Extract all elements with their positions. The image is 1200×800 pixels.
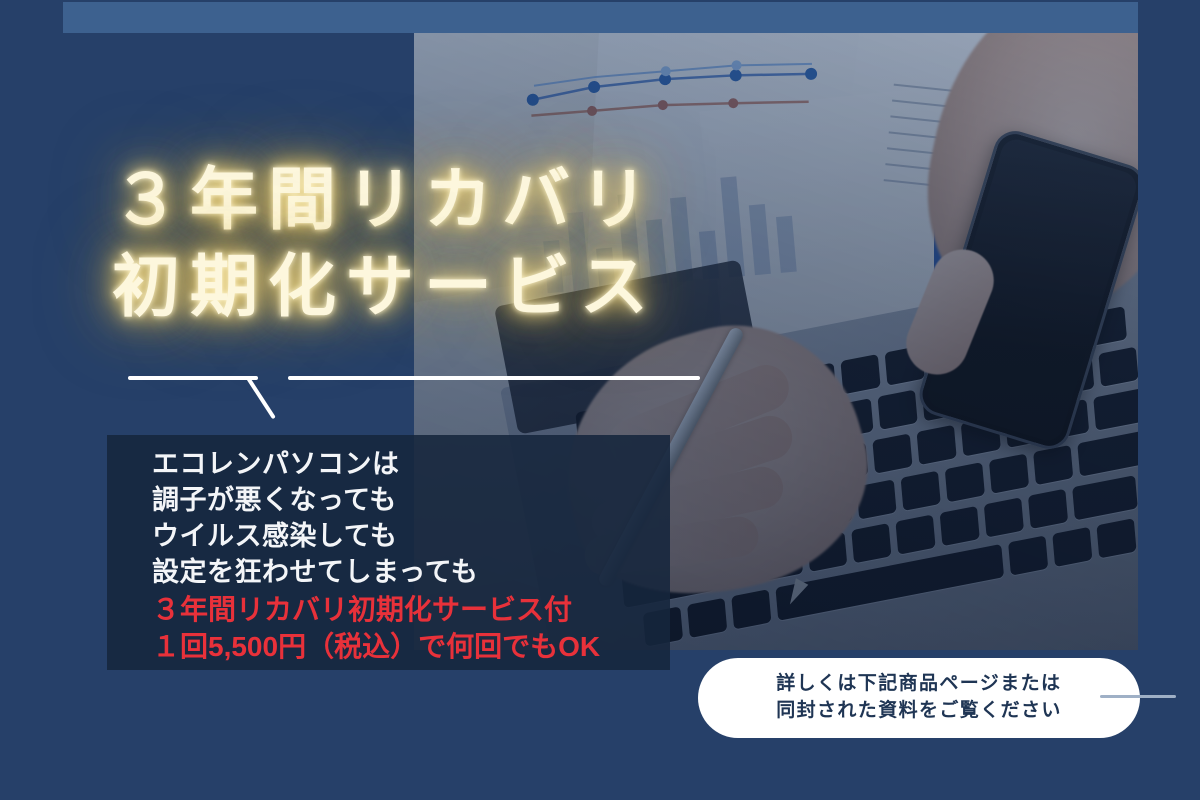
headline-line-1: ３年間リカバリ — [112, 162, 658, 238]
page-title: ３年間リカバリ 初期化サービス — [112, 166, 892, 323]
bracket-diagonal — [246, 377, 275, 419]
body-line-1: エコレンパソコンは — [152, 447, 664, 483]
body-line-2: 調子が悪くなっても — [152, 483, 664, 519]
body-line-5-highlight: ３年間リカバリ初期化サービス付 — [152, 591, 664, 628]
callout-text: 詳しくは下記商品ページまたは 同封された資料をご覧ください — [776, 671, 1062, 725]
body-line-6-price: １回5,500円（税込）で何回でもOK — [152, 628, 664, 665]
bracket-segment-left — [128, 376, 258, 380]
body-line-3: ウイルス感染しても — [152, 519, 664, 555]
callout-leader-line — [1100, 695, 1176, 698]
callout-bubble: 詳しくは下記商品ページまたは 同封された資料をご覧ください — [698, 658, 1140, 738]
body-copy-lines: エコレンパソコンは 調子が悪くなっても ウイルス感染しても 設定を狂わせてしまっ… — [152, 447, 664, 665]
body-copy-panel: エコレンパソコンは 調子が悪くなっても ウイルス感染しても 設定を狂わせてしまっ… — [107, 435, 670, 670]
callout-line-1: 詳しくは下記商品ページまたは — [776, 671, 1062, 698]
promo-banner: ３年間リカバリ 初期化サービス エコレンパソコンは 調子が悪くなっても ウイルス… — [0, 0, 1200, 800]
callout-line-2: 同封された資料をご覧ください — [776, 698, 1062, 725]
decorative-bracket — [110, 358, 710, 428]
top-accent-band — [63, 2, 1138, 33]
bracket-segment-right — [288, 376, 700, 380]
body-line-4: 設定を狂わせてしまっても — [152, 555, 664, 591]
headline-line-2: 初期化サービス — [112, 253, 892, 322]
